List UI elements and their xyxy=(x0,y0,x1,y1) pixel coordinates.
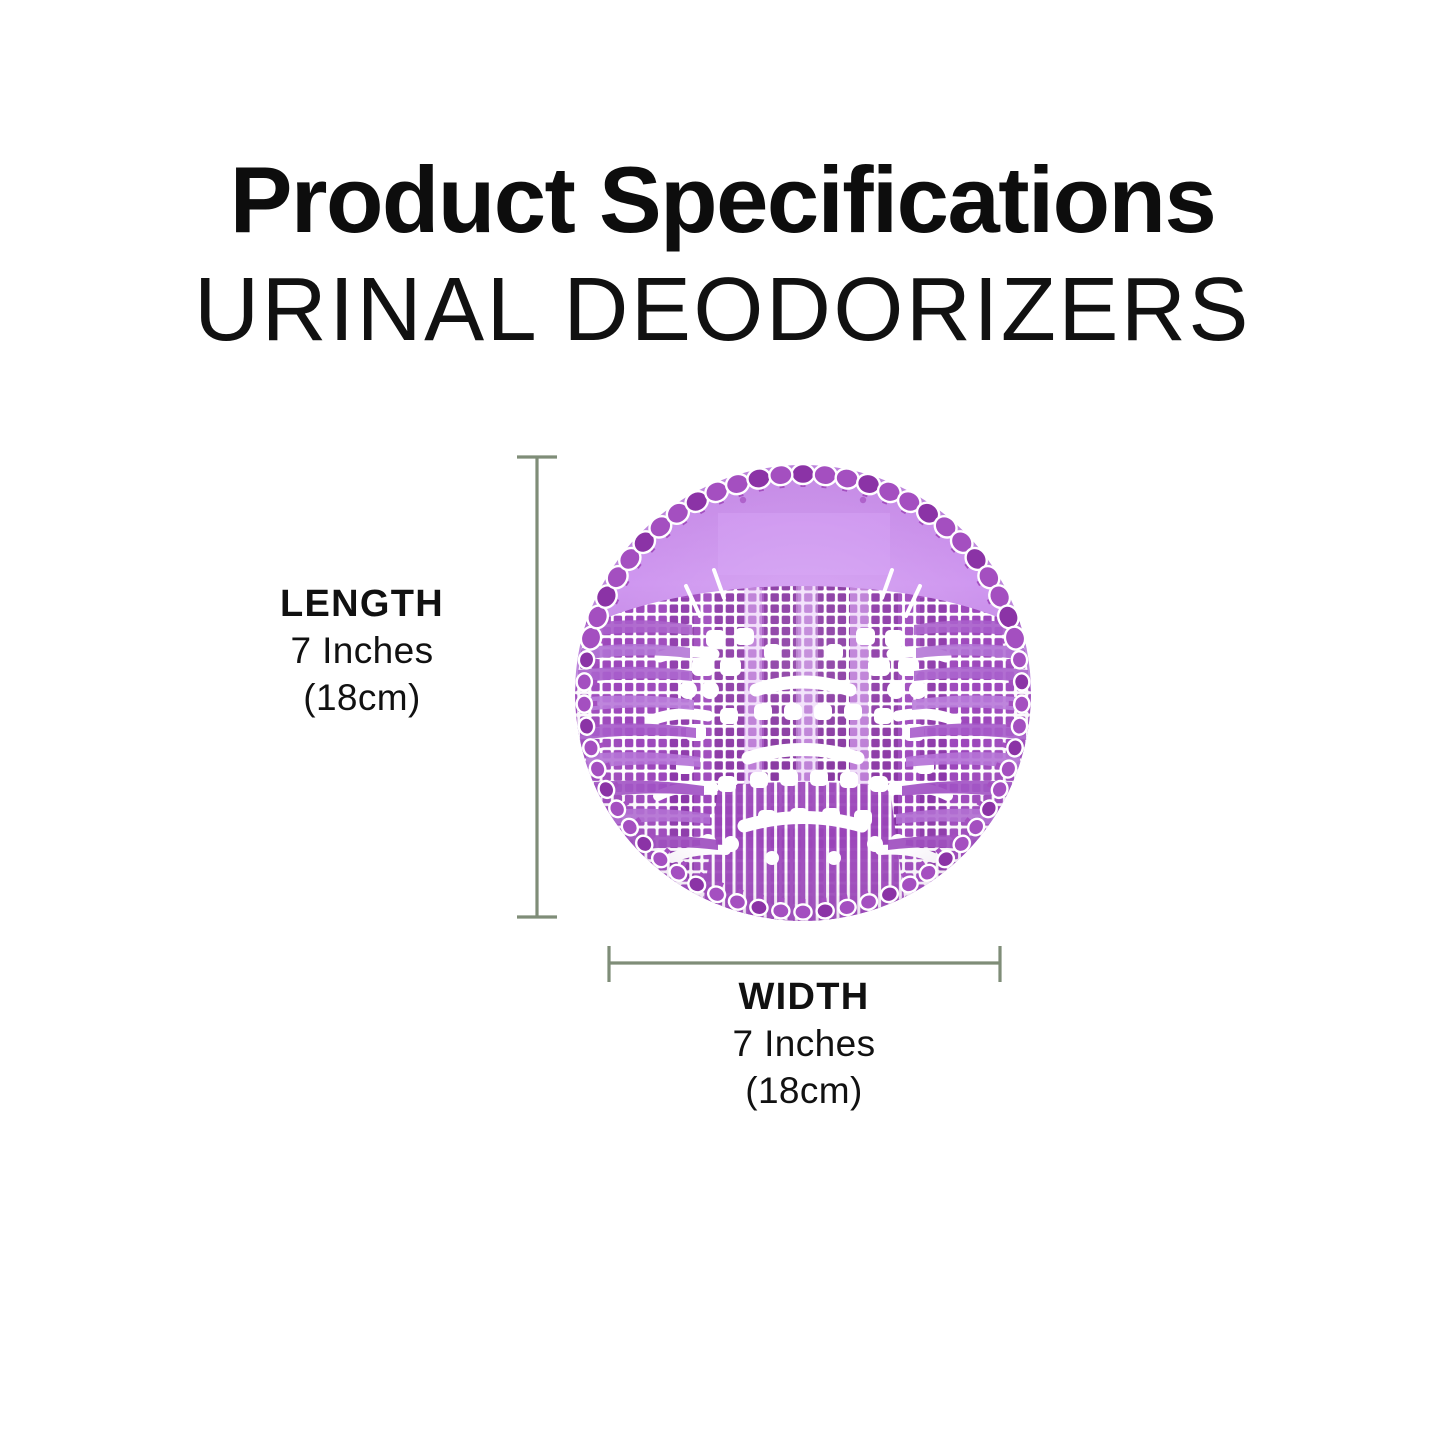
perimeter-nub xyxy=(816,902,835,919)
perimeter-nub xyxy=(772,902,791,919)
perimeter-nub xyxy=(576,673,592,691)
heading-block: Product Specifications URINAL DEODORIZER… xyxy=(0,150,1445,360)
width-value-imperial: 7 Inches xyxy=(604,1020,1004,1067)
length-value-imperial: 7 Inches xyxy=(212,627,512,674)
length-label-title: LENGTH xyxy=(212,582,512,627)
perimeter-nub xyxy=(768,464,793,486)
width-label-group: WIDTH 7 Inches (18cm) xyxy=(604,975,1004,1115)
urinal-screen-illustration xyxy=(568,458,1038,928)
width-value-metric: (18cm) xyxy=(604,1067,1004,1114)
specification-page: Product Specifications URINAL DEODORIZER… xyxy=(0,0,1445,1445)
page-subtitle: URINAL DEODORIZERS xyxy=(0,260,1445,361)
perimeter-nub xyxy=(576,695,592,713)
product-image xyxy=(568,458,1038,928)
perimeter-nub xyxy=(794,904,811,919)
perimeter-nub xyxy=(578,650,596,669)
perimeter-nub xyxy=(813,464,838,486)
perimeter-nub xyxy=(1014,673,1030,691)
length-label-group: LENGTH 7 Inches (18cm) xyxy=(212,582,512,722)
perimeter-nub xyxy=(792,464,815,484)
perimeter-nub xyxy=(1014,695,1030,713)
length-dimension-line xyxy=(517,457,557,917)
length-value-metric: (18cm) xyxy=(212,674,512,721)
perimeter-nub xyxy=(1011,650,1029,669)
page-title: Product Specifications xyxy=(0,150,1445,250)
product-disc xyxy=(568,458,1038,928)
perimeter-nub xyxy=(578,717,596,736)
perimeter-nub xyxy=(1011,717,1029,736)
width-label-title: WIDTH xyxy=(604,975,1004,1020)
